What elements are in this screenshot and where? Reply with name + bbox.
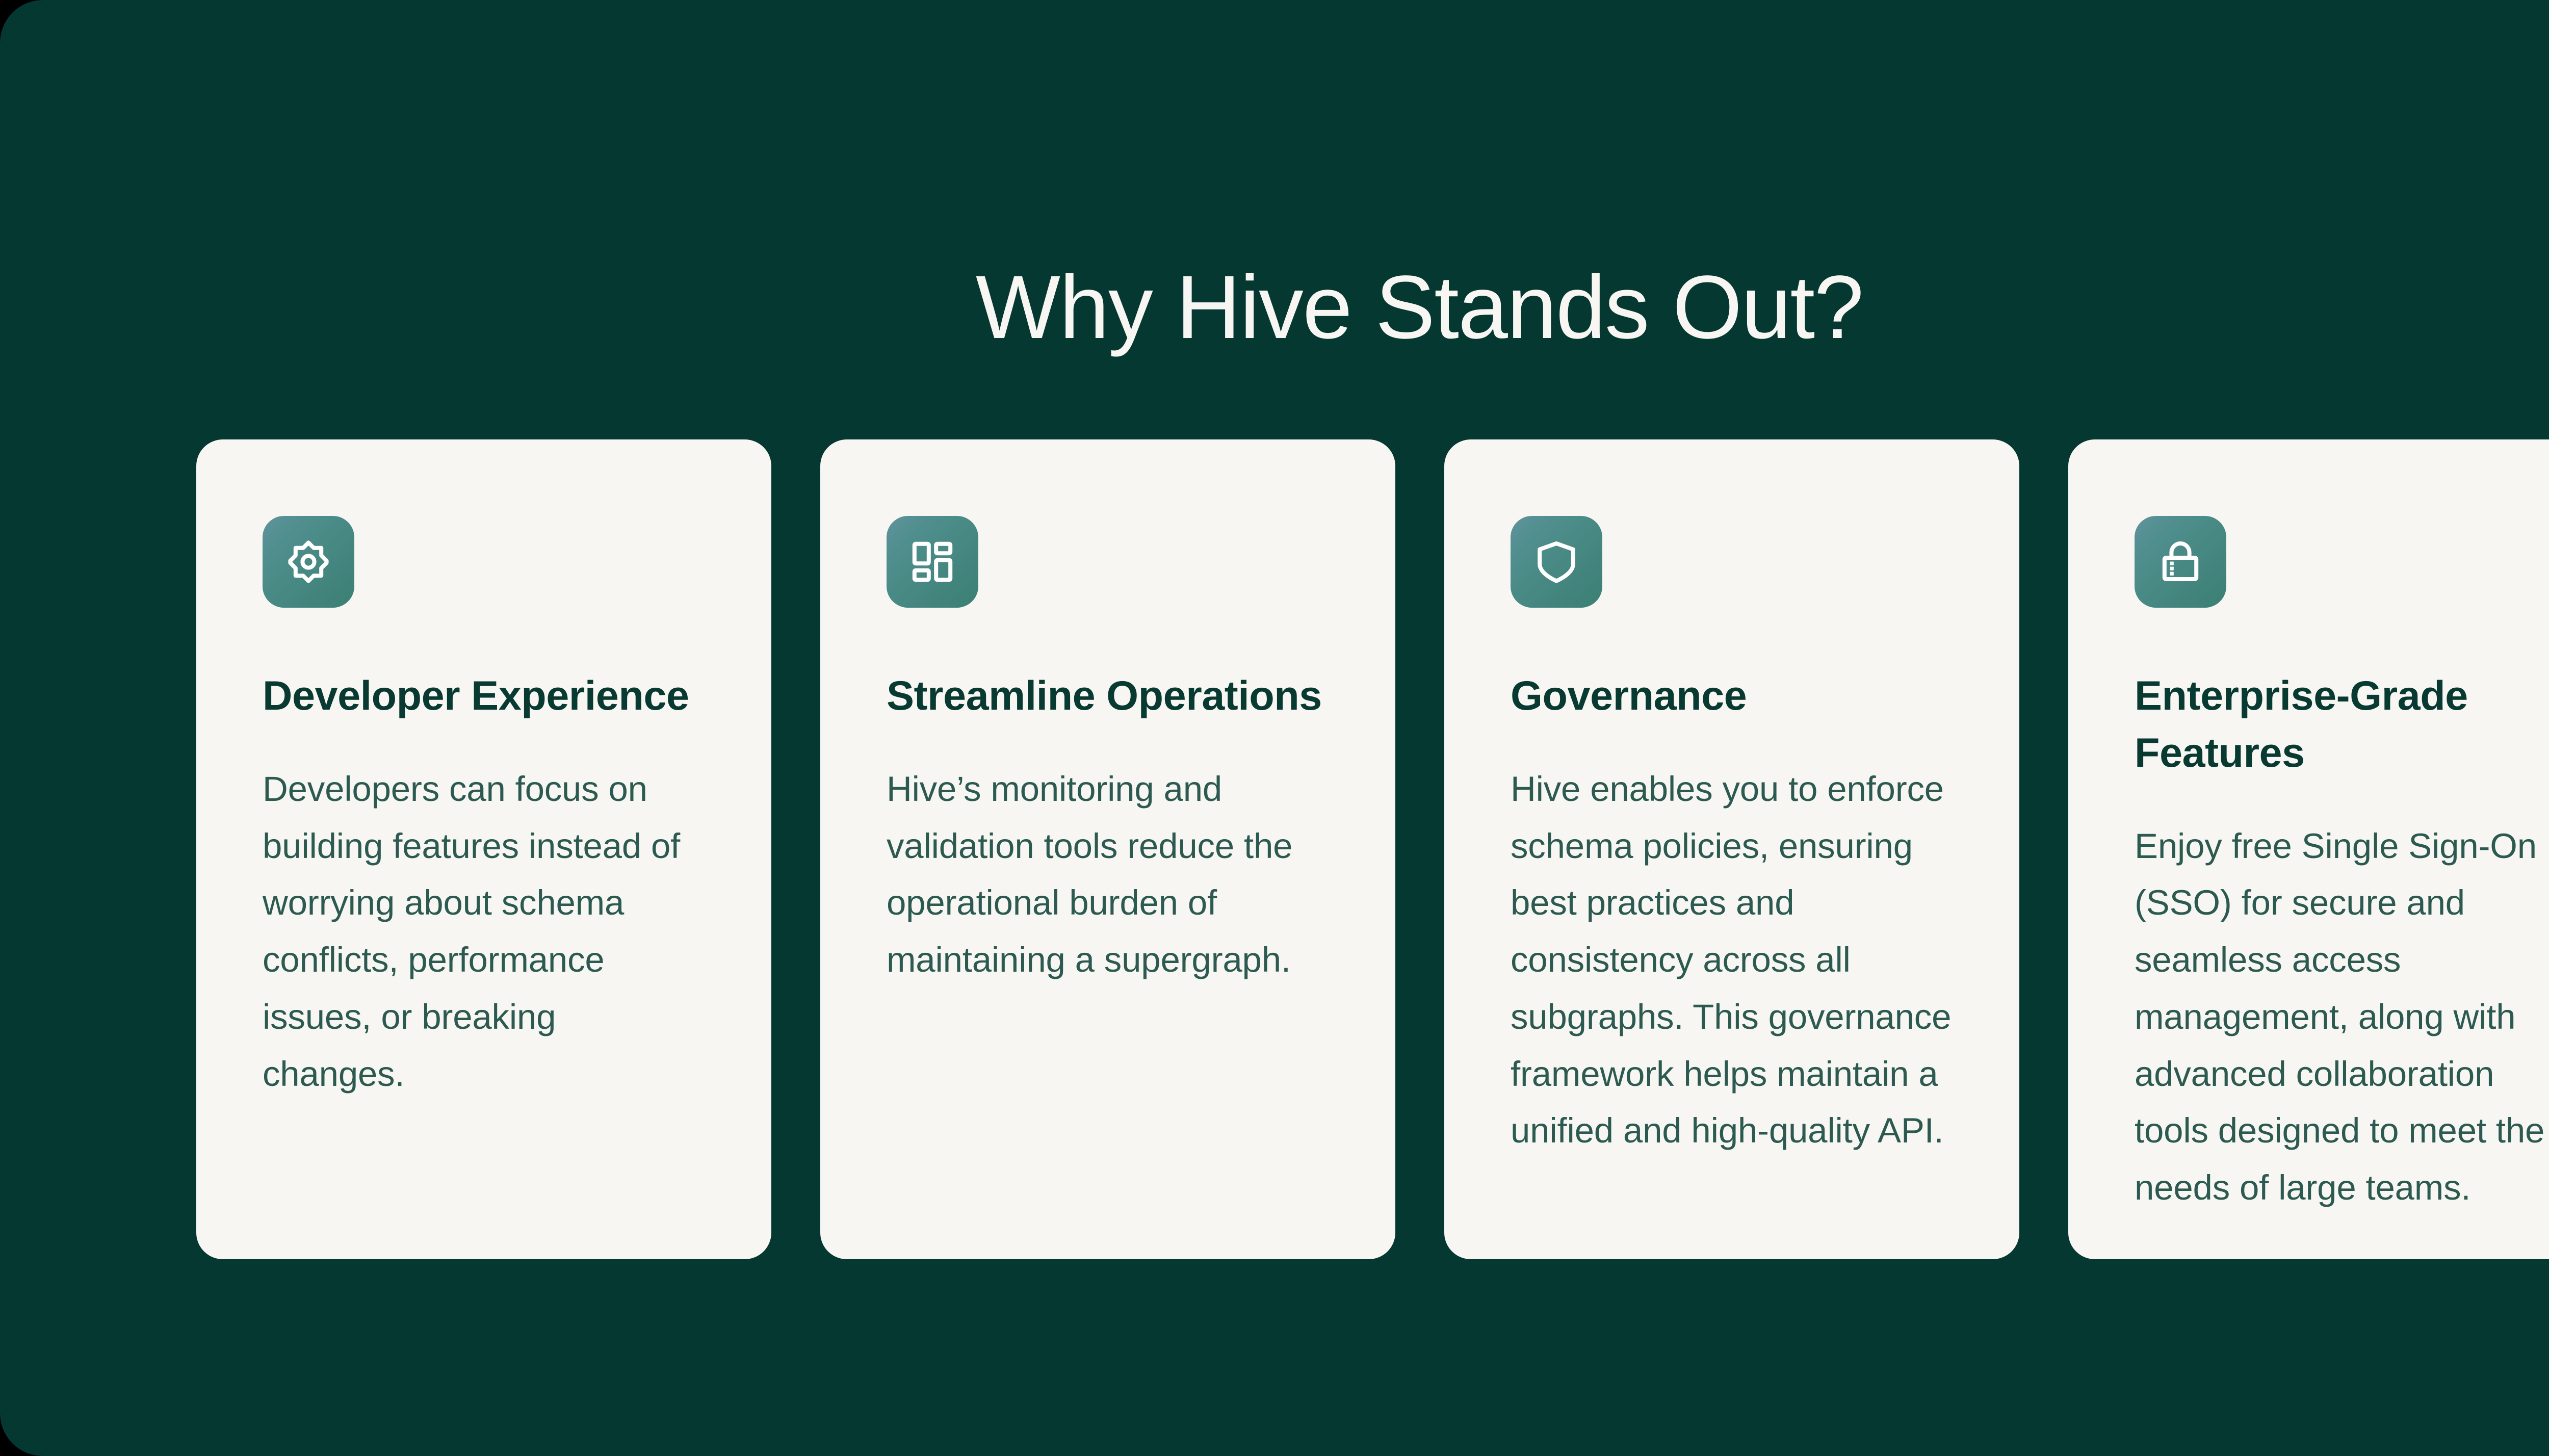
lock-icon-tile xyxy=(2135,516,2226,608)
feature-card-governance[interactable]: Governance Hive enables you to enforce s… xyxy=(1444,439,2019,1259)
page-title: Why Hive Stands Out? xyxy=(0,259,2549,356)
card-title: Streamline Operations xyxy=(887,668,1322,725)
feature-card-enterprise-grade-features[interactable]: Enterprise-Grade Features Enjoy free Sin… xyxy=(2068,439,2549,1259)
feature-card-streamline-operations[interactable]: Streamline Operations Hive’s monitoring … xyxy=(820,439,1395,1259)
shield-icon-tile xyxy=(1511,516,1602,608)
feature-card-developer-experience[interactable]: Developer Experience Developers can focu… xyxy=(196,439,771,1259)
card-body: Developers can focus on building feature… xyxy=(263,761,705,1103)
card-body: Hive’s monitoring and validation tools r… xyxy=(887,761,1329,989)
card-body: Hive enables you to enforce schema polic… xyxy=(1511,761,1953,1159)
card-title: Governance xyxy=(1511,668,1747,725)
feature-section-panel: Why Hive Stands Out? Developer Experienc… xyxy=(0,0,2549,1456)
card-title: Developer Experience xyxy=(263,668,689,725)
gear-icon xyxy=(284,537,333,586)
dashboard-layout-icon-tile xyxy=(887,516,978,608)
dashboard-layout-icon xyxy=(908,537,957,586)
shield-icon xyxy=(1532,537,1581,586)
lock-icon xyxy=(2156,537,2205,586)
feature-card-grid: Developer Experience Developers can focu… xyxy=(196,439,2549,1259)
gear-icon-tile xyxy=(263,516,354,608)
card-title: Enterprise-Grade Features xyxy=(2135,668,2549,782)
card-body: Enjoy free Single Sign-On (SSO) for secu… xyxy=(2135,818,2549,1216)
